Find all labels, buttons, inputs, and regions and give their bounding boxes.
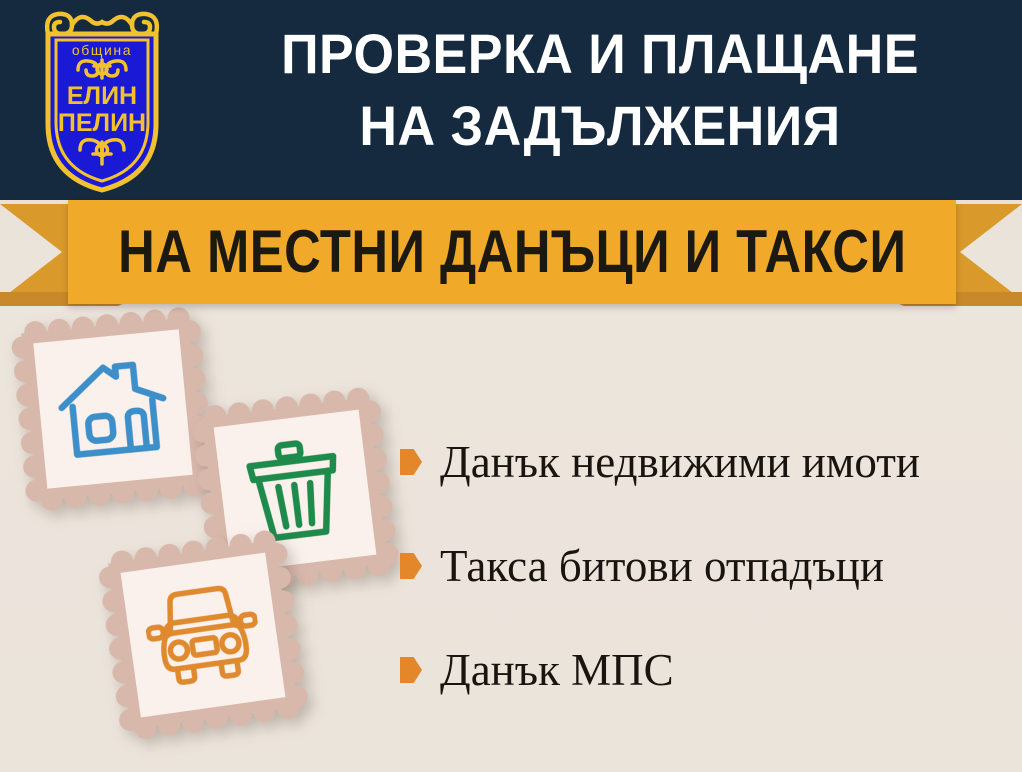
logo-municipality-label: община [72,42,132,58]
title-line-2: НА ЗАДЪЛЖЕНИЯ [214,90,986,162]
header-band: община ЕЛИН ПЕЛИН ПРОВЕРКА И ПЛАЩАНЕ НА … [0,0,1022,200]
logo-name-line1: ЕЛИН [67,82,137,110]
card-vehicle-tax [96,528,311,743]
service-list: Данък недвижими имоти Такса битови отпад… [400,410,1010,722]
card-property-tax [9,305,216,512]
ribbon-text: НА МЕСТНИ ДАНЪЦИ И ТАКСИ [118,221,906,284]
title-line-1: ПРОВЕРКА И ПЛАЩАНЕ [214,18,986,90]
list-item[interactable]: Данък недвижими имоти [400,410,1010,514]
bullet-arrow-icon [400,449,422,475]
list-item-label: Данък недвижими имоти [440,436,920,488]
subtitle-ribbon: НА МЕСТНИ ДАНЪЦИ И ТАКСИ [0,196,1022,308]
car-icon [121,553,286,718]
list-item[interactable]: Такса битови отпадъци [400,514,1010,618]
municipality-logo: община ЕЛИН ПЕЛИН [22,8,182,194]
logo-name-line2: ПЕЛИН [58,109,146,137]
bullet-arrow-icon [400,657,422,683]
list-item[interactable]: Данък МПС [400,618,1010,722]
page-title: ПРОВЕРКА И ПЛАЩАНЕ НА ЗАДЪЛЖЕНИЯ [185,18,1015,162]
bullet-arrow-icon [400,553,422,579]
poster-root: община ЕЛИН ПЕЛИН ПРОВЕРКА И ПЛАЩАНЕ НА … [0,0,1022,772]
list-item-label: Данък МПС [440,644,674,696]
ribbon-banner: НА МЕСТНИ ДАНЪЦИ И ТАКСИ [68,200,956,304]
house-icon [33,329,192,488]
icon-card-group [0,300,420,772]
list-item-label: Такса битови отпадъци [440,540,884,592]
